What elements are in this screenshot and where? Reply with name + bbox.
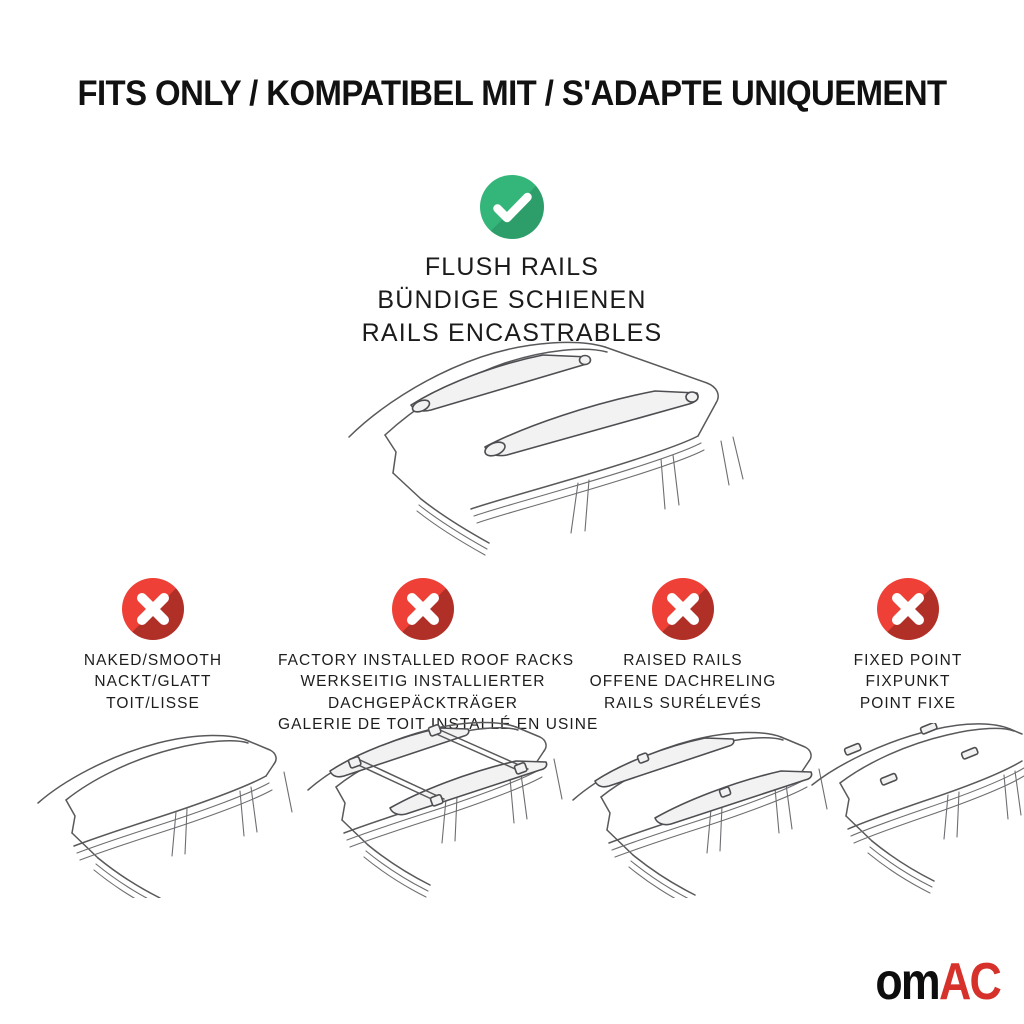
item-label-de-1: WERKSEITIG INSTALLIERTER <box>278 671 568 692</box>
compatible-label-de: BÜNDIGE SCHIENEN <box>0 284 1024 317</box>
page-title: FITS ONLY / KOMPATIBEL MIT / S'ADAPTE UN… <box>31 74 994 114</box>
bare-roof-illustration <box>8 728 298 898</box>
factory-roof-rack-illustration <box>278 718 568 898</box>
fixed-point-illustration <box>798 723 1024 898</box>
incompatible-item-raised-rails: RAISED RAILS OFFENE DACHRELING RAILS SUR… <box>568 578 798 714</box>
item-label-de-2: DACHGEPÄCKTRÄGER <box>278 693 568 714</box>
x-circle-icon <box>122 578 184 640</box>
logo-text-red: AC <box>939 953 1000 1011</box>
item-label-fr: TOIT/LISSE <box>8 693 298 714</box>
item-label-en: RAISED RAILS <box>568 650 798 671</box>
item-label-de: FIXPUNKT <box>798 671 1018 692</box>
compatibility-infographic: FITS ONLY / KOMPATIBEL MIT / S'ADAPTE UN… <box>0 0 1024 1024</box>
incompatible-item-factory-roof-racks: FACTORY INSTALLED ROOF RACKS WERKSEITIG … <box>278 578 568 736</box>
item-label-fr: RAILS SURÉLEVÉS <box>568 693 798 714</box>
x-circle-icon <box>877 578 939 640</box>
compatible-section: FLUSH RAILS BÜNDIGE SCHIENEN RAILS ENCAS… <box>0 175 1024 350</box>
x-circle-icon <box>652 578 714 640</box>
omac-logo: omAC <box>855 958 1000 1006</box>
incompatible-item-naked-smooth: NAKED/SMOOTH NACKT/GLATT TOIT/LISSE <box>8 578 298 714</box>
x-circle-icon <box>392 578 454 640</box>
badge-wrap <box>8 578 298 640</box>
item-label-en: NAKED/SMOOTH <box>8 650 298 671</box>
item-label-fr: POINT FIXE <box>798 693 1018 714</box>
compatible-label-en: FLUSH RAILS <box>0 251 1024 284</box>
raised-rails-illustration <box>533 728 833 898</box>
logo-text-dark: om <box>875 953 939 1011</box>
item-labels: RAISED RAILS OFFENE DACHRELING RAILS SUR… <box>568 650 798 714</box>
item-label-de: NACKT/GLATT <box>8 671 298 692</box>
badge-wrap <box>278 578 568 640</box>
item-labels: NAKED/SMOOTH NACKT/GLATT TOIT/LISSE <box>8 650 298 714</box>
incompatible-section: NAKED/SMOOTH NACKT/GLATT TOIT/LISSE <box>0 578 1024 908</box>
incompatible-item-fixed-point: FIXED POINT FIXPUNKT POINT FIXE <box>798 578 1018 714</box>
item-label-en: FACTORY INSTALLED ROOF RACKS <box>278 650 568 671</box>
check-circle-icon <box>480 175 544 239</box>
flush-rails-roof-illustration <box>293 333 763 578</box>
item-labels: FIXED POINT FIXPUNKT POINT FIXE <box>798 650 1018 714</box>
item-label-de: OFFENE DACHRELING <box>568 671 798 692</box>
badge-wrap <box>568 578 798 640</box>
badge-wrap <box>798 578 1018 640</box>
item-label-en: FIXED POINT <box>798 650 1018 671</box>
